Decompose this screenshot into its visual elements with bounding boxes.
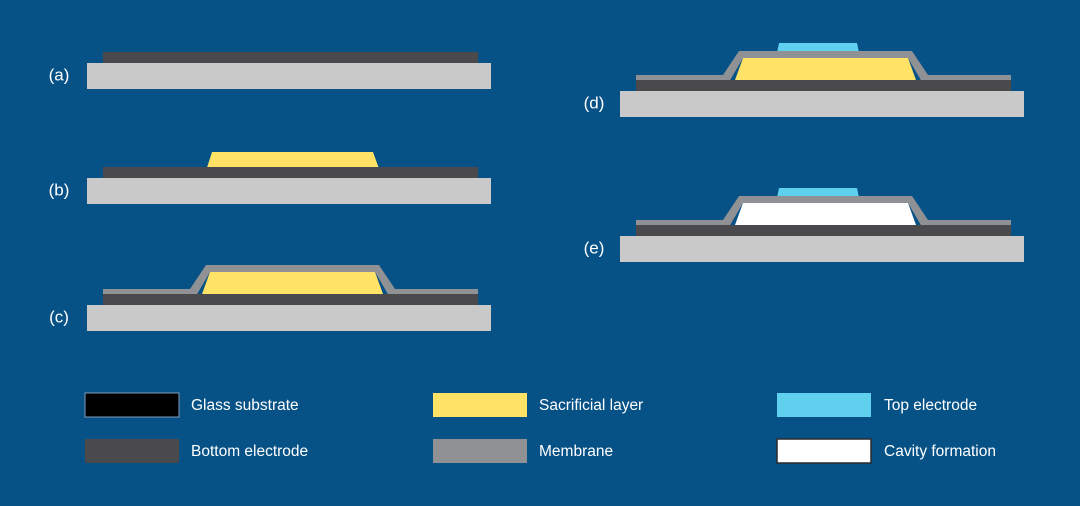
panel-a: (a)	[49, 52, 491, 89]
panel-d-label: (d)	[584, 93, 605, 112]
process-flow-diagram: (a) (b) (c) (d) (e)	[0, 0, 1080, 506]
legend-item-sacrificial-layer: Sacrificial layer	[433, 393, 643, 417]
panel-c-bottom-electrode	[103, 294, 478, 305]
panel-d-glass-substrate	[620, 91, 1024, 117]
panel-a-bottom-electrode	[103, 52, 478, 63]
panel-c-glass-substrate	[87, 305, 491, 331]
legend-label-cavity-formation: Cavity formation	[884, 443, 996, 460]
legend-swatch-bottom-electrode	[85, 439, 179, 463]
legend-swatch-sacrificial-layer	[433, 393, 527, 417]
panel-b-bottom-electrode	[103, 167, 478, 178]
panel-b-glass-substrate	[87, 178, 491, 204]
legend-item-membrane: Membrane	[433, 439, 613, 463]
legend-label-sacrificial-layer: Sacrificial layer	[539, 397, 643, 414]
legend-swatch-top-electrode	[777, 393, 871, 417]
legend-label-top-electrode: Top electrode	[884, 397, 977, 414]
panel-c-label: (c)	[49, 307, 69, 326]
legend-label-membrane: Membrane	[539, 443, 613, 460]
panel-b-label: (b)	[49, 180, 70, 199]
legend-item-bottom-electrode: Bottom electrode	[85, 439, 308, 463]
legend-label-glass-substrate: Glass substrate	[191, 397, 299, 414]
legend-swatch-cavity-formation	[777, 439, 871, 463]
panel-e-label: (e)	[584, 238, 605, 257]
panel-e-glass-substrate	[620, 236, 1024, 262]
panel-d-bottom-electrode	[636, 80, 1011, 91]
legend-item-cavity-formation: Cavity formation	[777, 439, 996, 463]
panel-e-bottom-electrode	[636, 225, 1011, 236]
panel-a-label: (a)	[49, 65, 70, 84]
panel-c-sacrificial-layer	[202, 272, 383, 294]
panel-d-sacrificial-layer	[735, 58, 916, 80]
panel-a-glass-substrate	[87, 63, 491, 89]
panel-e-cavity	[735, 203, 916, 225]
legend-item-glass-substrate: Glass substrate	[85, 393, 299, 417]
legend-swatch-glass-substrate	[85, 393, 179, 417]
legend-label-bottom-electrode: Bottom electrode	[191, 443, 308, 460]
legend-swatch-membrane	[433, 439, 527, 463]
